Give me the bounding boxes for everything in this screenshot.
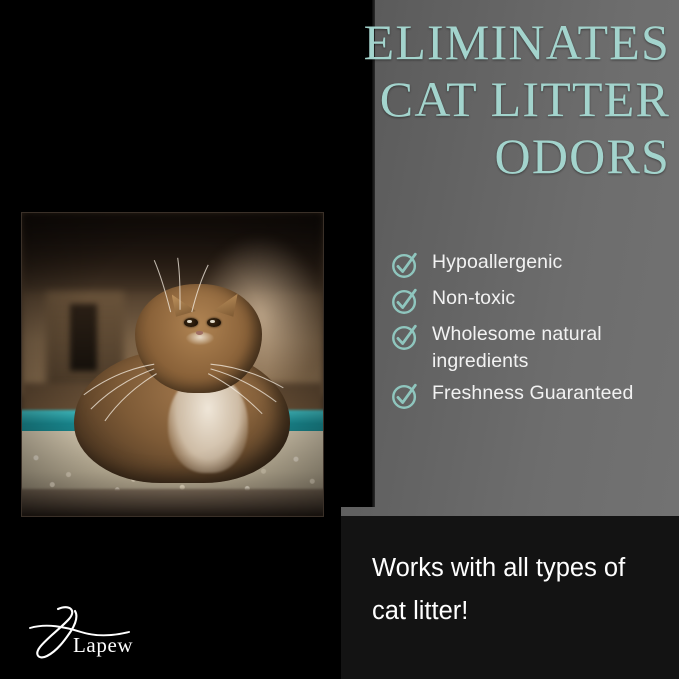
feature-item: Freshness Guaranteed xyxy=(390,380,675,411)
check-circle-icon xyxy=(390,250,420,280)
feature-item: Hypoallergenic xyxy=(390,249,675,280)
check-circle-icon xyxy=(390,286,420,316)
check-circle-icon xyxy=(390,381,420,411)
feature-label: Freshness Guaranteed xyxy=(432,380,633,407)
headline-line-1: ELIMINATES xyxy=(250,14,670,71)
product-advertisement: ELIMINATES CAT LITTER ODORS xyxy=(0,0,679,679)
photo-vignette xyxy=(22,213,323,516)
brand-name: Lapew xyxy=(73,633,133,658)
brand-logo: Lapew xyxy=(25,602,175,664)
check-circle-icon xyxy=(390,322,420,352)
product-photo xyxy=(22,213,323,516)
feature-item: Non-toxic xyxy=(390,285,675,316)
feature-item: Wholesome natural ingredients xyxy=(390,321,675,375)
headline-line-2: CAT LITTER xyxy=(250,71,670,128)
feature-label: Hypoallergenic xyxy=(432,249,562,276)
feature-label: Non-toxic xyxy=(432,285,515,312)
photo-scene xyxy=(22,213,323,516)
headline-line-3: ODORS xyxy=(250,128,670,185)
feature-list: Hypoallergenic Non-toxic Wholesome natur… xyxy=(390,249,675,416)
feature-label: Wholesome natural ingredients xyxy=(432,321,670,375)
callout-box: Works with all types of cat litter! xyxy=(341,516,679,679)
callout-text: Works with all types of cat litter! xyxy=(372,547,662,633)
headline: ELIMINATES CAT LITTER ODORS xyxy=(250,14,670,185)
